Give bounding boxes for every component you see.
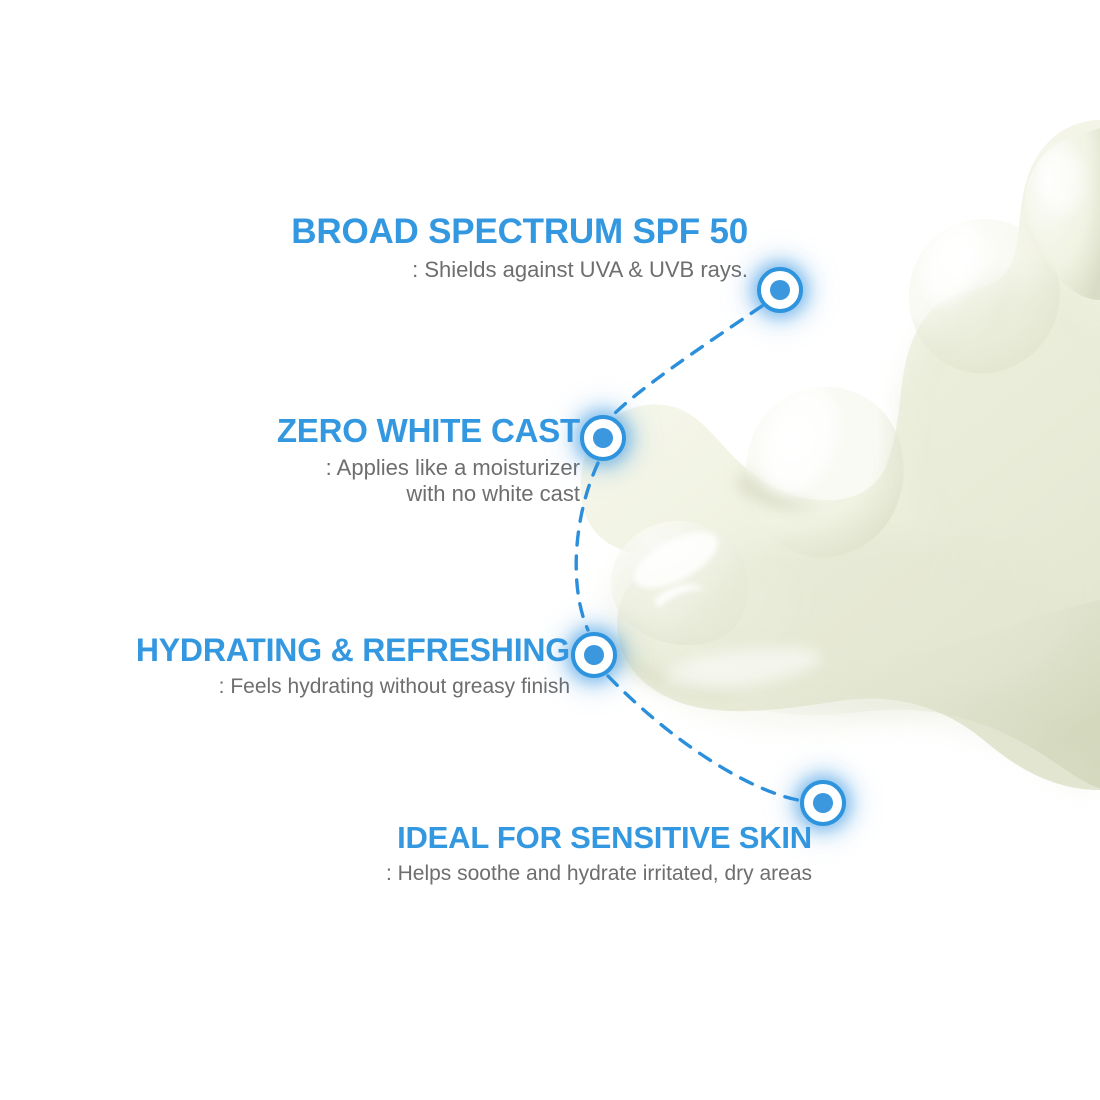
feature-marker-sensitive-skin[interactable] xyxy=(800,780,846,826)
feature-hydrating-refreshing: HYDRATING & REFRESHING : Feels hydrating… xyxy=(136,634,570,699)
feature-2-subtitle-line-1: : Applies like a moisturizer xyxy=(277,455,580,482)
connector-1-2 xyxy=(612,306,762,416)
feature-1-headline: BROAD SPECTRUM SPF 50 xyxy=(291,214,748,251)
feature-broad-spectrum: BROAD SPECTRUM SPF 50 : Shields against … xyxy=(291,214,748,284)
feature-3-subtitle-line-1: : Feels hydrating without greasy finish xyxy=(136,674,570,700)
feature-marker-hydrating-refreshing[interactable] xyxy=(571,632,617,678)
feature-2-subtitle-line-2: with no white cast xyxy=(277,481,580,508)
feature-4-subtitle: : Helps soothe and hydrate irritated, dr… xyxy=(386,861,812,887)
feature-4-headline: IDEAL FOR SENSITIVE SKIN xyxy=(386,822,812,855)
feature-marker-zero-white-cast[interactable] xyxy=(580,415,626,461)
marker-dot-icon xyxy=(770,280,790,300)
infographic-canvas: BROAD SPECTRUM SPF 50 : Shields against … xyxy=(0,0,1100,1100)
feature-1-subtitle-line-1: : Shields against UVA & UVB rays. xyxy=(291,257,748,284)
connector-3-4 xyxy=(608,676,798,800)
feature-4-subtitle-line-1: : Helps soothe and hydrate irritated, dr… xyxy=(386,861,812,887)
feature-marker-broad-spectrum[interactable] xyxy=(757,267,803,313)
feature-2-headline: ZERO WHITE CAST xyxy=(277,414,580,449)
feature-3-subtitle: : Feels hydrating without greasy finish xyxy=(136,674,570,700)
feature-1-subtitle: : Shields against UVA & UVB rays. xyxy=(291,257,748,284)
marker-dot-icon xyxy=(813,793,833,813)
feature-2-subtitle: : Applies like a moisturizer with no whi… xyxy=(277,455,580,509)
feature-sensitive-skin: IDEAL FOR SENSITIVE SKIN : Helps soothe … xyxy=(386,822,812,886)
feature-zero-white-cast: ZERO WHITE CAST : Applies like a moistur… xyxy=(277,414,580,508)
marker-dot-icon xyxy=(584,645,604,665)
connector-layer xyxy=(0,0,1100,1100)
marker-dot-icon xyxy=(593,428,613,448)
feature-3-headline: HYDRATING & REFRESHING xyxy=(136,634,570,668)
